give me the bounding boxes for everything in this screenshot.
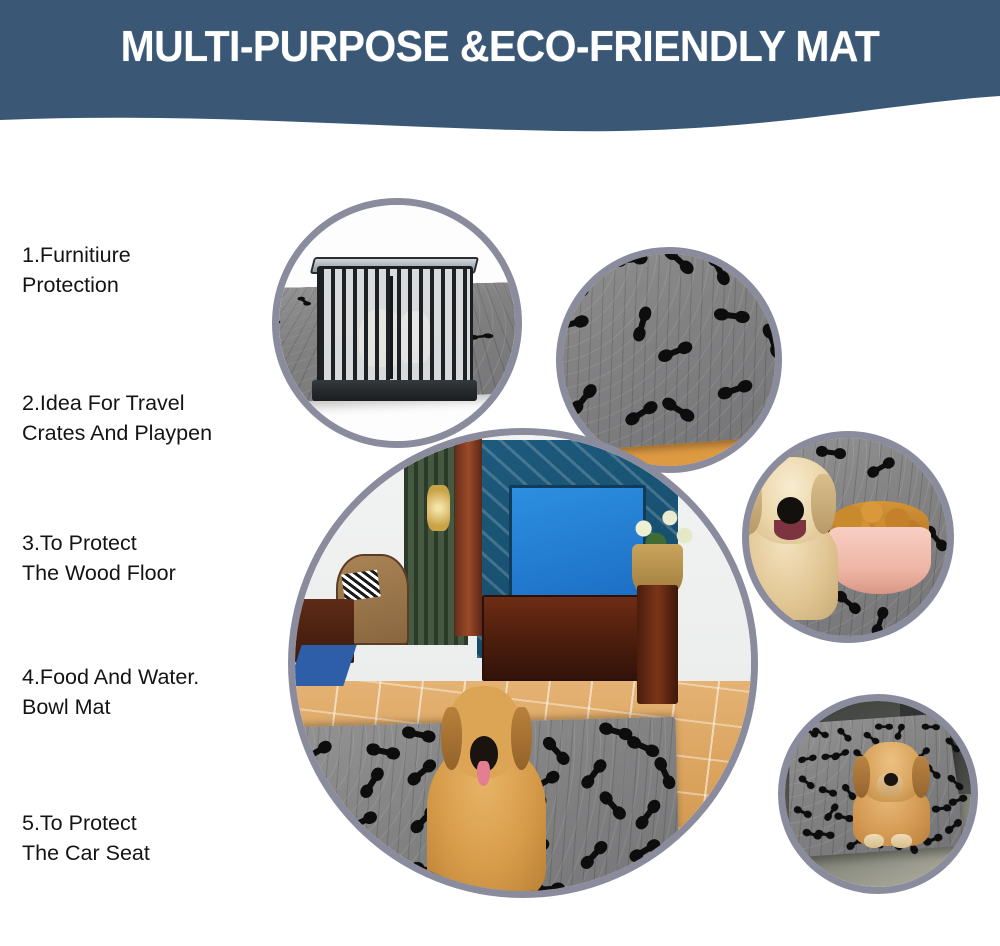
bone-motif	[521, 306, 522, 310]
bone-motif	[573, 389, 593, 411]
bone-motif	[935, 806, 949, 810]
photo-living-room-mat	[288, 428, 758, 898]
bone-motif	[349, 815, 371, 830]
bone-motif	[298, 868, 320, 884]
bone-motif	[347, 847, 368, 866]
bone-motif	[778, 381, 782, 403]
bone-motif	[584, 845, 603, 865]
bone-motif	[875, 611, 886, 632]
page-title: MULTI-PURPOSE &ECO-FRIENDLY MAT	[35, 22, 965, 72]
photo-car-seat-mat	[778, 694, 978, 894]
chair-pillow	[341, 569, 381, 601]
golden-retriever-at-bowl	[742, 454, 848, 620]
mat-surface-wood	[556, 247, 782, 453]
bone-motif	[476, 897, 499, 898]
bone-motif	[603, 796, 622, 816]
golden-retriever-on-mat	[427, 686, 546, 896]
bone-motif	[924, 725, 936, 728]
bone-motif	[667, 401, 691, 419]
bone-motif	[630, 404, 654, 422]
wood-column	[455, 435, 482, 636]
feature-item-4: 4.Food And Water. Bowl Mat	[22, 662, 287, 722]
bone-motif	[559, 288, 584, 298]
bone-motif	[947, 822, 959, 833]
feature-item-1: 1.Furnitiure Protection	[22, 240, 287, 300]
feature-list: 1.Furnitiure Protection 2.Idea For Trave…	[0, 150, 285, 930]
bordeaux-puppy	[848, 742, 934, 846]
photo-food-and-water-bowl-mat	[742, 431, 954, 643]
bone-motif	[559, 318, 584, 330]
bone-motif	[723, 383, 748, 396]
bone-motif	[663, 345, 688, 360]
bone-motif	[719, 312, 744, 321]
bone-motif	[766, 329, 780, 354]
bone-motif	[935, 457, 954, 470]
photo-dog-crate-on-mat	[272, 198, 522, 448]
bone-motif	[591, 897, 614, 898]
crate-base-tray	[312, 380, 477, 401]
bone-motif	[896, 726, 903, 738]
feature-item-2: 2.Idea For Travel Crates And Playpen	[22, 388, 287, 448]
bone-motif	[633, 843, 655, 859]
bone-motif	[354, 883, 377, 894]
bone-motif	[547, 741, 566, 761]
bone-motif	[800, 778, 812, 788]
header-banner: MULTI-PURPOSE &ECO-FRIENDLY MAT	[0, 0, 1000, 140]
bone-motif	[639, 804, 657, 825]
bone-motif	[515, 289, 521, 296]
bone-motif	[668, 250, 690, 271]
tv-console	[482, 595, 646, 682]
bone-motif	[839, 730, 849, 740]
bone-motif	[877, 725, 889, 728]
bone-motif	[711, 257, 727, 281]
bone-motif	[632, 739, 655, 754]
crate-door-edge	[390, 276, 393, 379]
feature-item-5: 5.To Protect The Car Seat	[22, 808, 287, 868]
bone-motif	[817, 832, 831, 837]
crate-cage	[317, 266, 473, 389]
bone-motif	[657, 762, 672, 785]
bone-motif	[302, 826, 325, 836]
bone-motif	[801, 756, 814, 761]
bone-motif	[795, 808, 808, 816]
infographic-page: MULTI-PURPOSE &ECO-FRIENDLY MAT 1.Furnit…	[0, 0, 1000, 946]
bone-motif	[618, 255, 643, 264]
bone-motif	[821, 788, 834, 795]
bone-motif	[299, 298, 309, 305]
bone-motif	[871, 460, 891, 474]
table-lamp	[427, 485, 450, 531]
bone-motif	[584, 764, 602, 785]
bone-motif	[772, 263, 782, 288]
bone-motif	[371, 746, 394, 756]
column-plinth	[637, 585, 678, 704]
bone-motif	[472, 335, 490, 339]
bone-motif	[604, 726, 627, 738]
crate-bars	[320, 269, 470, 386]
feature-item-3: 3.To Protect The Wood Floor	[22, 528, 287, 588]
bone-motif	[305, 744, 327, 760]
bone-motif	[289, 894, 312, 898]
bone-motif	[636, 312, 648, 337]
bone-motif	[298, 766, 317, 787]
bone-motif	[364, 772, 381, 794]
